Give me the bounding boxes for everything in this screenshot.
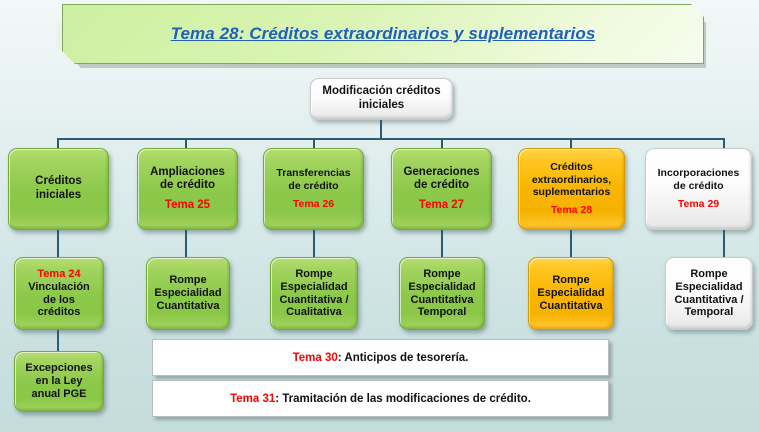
label-line3: créditos [19, 306, 99, 319]
node-tema24-label: Tema 24 Vinculación de los créditos [15, 268, 103, 320]
node-incorporaciones-label: Incorporaciones de crédito Tema 29 [646, 167, 751, 210]
node-incorporaciones-de-credito[interactable]: Incorporaciones de crédito Tema 29 [645, 148, 752, 230]
label-line1: Rompe [670, 268, 748, 281]
label-line3: Cuantitativa / [670, 294, 748, 307]
connector-col1-head-to-sub [57, 230, 59, 258]
label-line3: Cuantitativa [151, 300, 225, 313]
node-excepciones-ley-anual-pge[interactable]: Excepciones en la Ley anual PGE [14, 351, 104, 412]
tema-badge: Tema 29 [650, 198, 747, 210]
node-generaciones-de-credito[interactable]: Generaciones de crédito Tema 27 [391, 148, 492, 230]
label-line2: Especialidad [275, 281, 353, 294]
label-line3: anual PGE [19, 388, 99, 401]
label-line1: Rompe [533, 274, 609, 287]
root-label-line2: iniciales [315, 99, 448, 113]
connector-horizontal-bus [57, 138, 725, 140]
tema-badge: Tema 24 [19, 268, 99, 281]
node-rompe-label: Rompe Especialidad Cuantitativa / Cualit… [271, 268, 357, 320]
node-rompe-label: Rompe Especialidad Cuantitativa [529, 274, 613, 313]
label-line3: Cuantitativa / [275, 294, 353, 307]
node-transferencias-de-credito[interactable]: Transferencias de crédito Tema 26 [263, 148, 364, 230]
node-rompe-especialidad-cuantitativa-temporal-generaciones[interactable]: Rompe Especialidad Cuantitativa Temporal [399, 257, 485, 330]
label-line2: de crédito [142, 179, 233, 193]
connector-col3-head-to-sub [313, 230, 315, 258]
connector-col4-head-to-sub [441, 230, 443, 258]
label-line1: Rompe [275, 268, 353, 281]
label-line2: Especialidad [404, 281, 480, 294]
label-line1: Excepciones [19, 362, 99, 375]
node-rompe-especialidad-cuantitativa-cualitativa[interactable]: Rompe Especialidad Cuantitativa / Cualit… [270, 257, 358, 330]
root-node-modificacion-creditos-iniciales[interactable]: Modificación créditos iniciales [310, 78, 453, 120]
tema-badge: Tema 26 [268, 198, 359, 210]
label-line3: Cuantitativa [404, 294, 480, 307]
tema-badge: Tema 31 [230, 393, 275, 405]
node-creditos-extraordinarios-label: Créditos extraordinarios, suplementarios… [519, 161, 624, 217]
node-creditos-iniciales[interactable]: Créditos iniciales [8, 148, 109, 230]
banner-body: Tema 28: Créditos extraordinarios y supl… [62, 4, 704, 64]
node-rompe-especialidad-cuantitativa-ampliaciones[interactable]: Rompe Especialidad Cuantitativa [146, 257, 230, 330]
node-creditos-iniciales-label: Créditos iniciales [9, 175, 108, 202]
label-line4: Cualitativa [275, 306, 353, 319]
footer-banner-tema-30-text: Tema 30: Anticipos de tesorería. [293, 352, 469, 364]
title-banner: Tema 28: Créditos extraordinarios y supl… [62, 4, 702, 64]
node-excepciones-label: Excepciones en la Ley anual PGE [15, 362, 103, 401]
label-line2: de los [19, 294, 99, 307]
label-line1: Generaciones [396, 166, 487, 180]
footer-banner-tema-31[interactable]: Tema 31: Tramitación de las modificacion… [152, 380, 609, 417]
label-line2: Especialidad [670, 281, 748, 294]
label-line4: Temporal [404, 306, 480, 319]
label-line2: de crédito [396, 179, 487, 193]
footer-banner-tema-30-body: : Anticipos de tesorería. [338, 352, 469, 364]
page-title: Tema 28: Créditos extraordinarios y supl… [171, 24, 596, 44]
label-line2: de crédito [268, 180, 359, 192]
label-line4: Temporal [670, 306, 748, 319]
root-label-line1: Modificación créditos [315, 85, 448, 99]
root-node-label: Modificación créditos iniciales [311, 85, 452, 112]
label-line2: extraordinarios, [523, 174, 620, 186]
label-line1: Vinculación [19, 281, 99, 294]
node-transferencias-label: Transferencias de crédito Tema 26 [264, 167, 363, 210]
node-rompe-label: Rompe Especialidad Cuantitativa Temporal [400, 268, 484, 320]
tema-badge: Tema 25 [142, 199, 233, 213]
node-rompe-especialidad-cuantitativa-temporal-incorporaciones[interactable]: Rompe Especialidad Cuantitativa / Tempor… [665, 257, 753, 330]
label-line2: de crédito [650, 180, 747, 192]
node-ampliaciones-label: Ampliaciones de crédito Tema 25 [138, 166, 237, 213]
node-rompe-especialidad-cuantitativa-extraordinarios[interactable]: Rompe Especialidad Cuantitativa [528, 257, 614, 330]
footer-banner-tema-31-text: Tema 31: Tramitación de las modificacion… [230, 393, 531, 405]
connector-col1-sub-to-sub2 [57, 330, 59, 352]
label-line3: Cuantitativa [533, 300, 609, 313]
connector-root-stem [380, 120, 382, 139]
footer-banner-tema-31-body: : Tramitación de las modificaciones de c… [275, 393, 531, 405]
node-creditos-extraordinarios-suplementarios[interactable]: Créditos extraordinarios, suplementarios… [518, 148, 625, 230]
label-line2: iniciales [13, 189, 104, 203]
diagram-canvas: Tema 28: Créditos extraordinarios y supl… [0, 0, 759, 432]
label-line1: Rompe [151, 274, 225, 287]
connector-col2-head-to-sub [185, 230, 187, 258]
label-line1: Créditos [523, 161, 620, 173]
label-line1: Rompe [404, 268, 480, 281]
node-rompe-label: Rompe Especialidad Cuantitativa / Tempor… [666, 268, 752, 320]
tema-badge: Tema 27 [396, 199, 487, 213]
label-line2: Especialidad [151, 287, 225, 300]
label-line2: en la Ley [19, 375, 99, 388]
connector-col5-head-to-sub [570, 230, 572, 258]
tema-badge: Tema 30 [293, 352, 338, 364]
connector-col6-head-to-sub [723, 230, 725, 258]
node-rompe-label: Rompe Especialidad Cuantitativa [147, 274, 229, 313]
label-line1: Créditos [13, 175, 104, 189]
footer-banner-tema-30[interactable]: Tema 30: Anticipos de tesorería. [152, 339, 609, 376]
label-line3: suplementarios [523, 186, 620, 198]
label-line1: Incorporaciones [650, 167, 747, 179]
label-line1: Ampliaciones [142, 166, 233, 180]
tema-badge: Tema 28 [523, 204, 620, 216]
node-generaciones-label: Generaciones de crédito Tema 27 [392, 166, 491, 213]
node-tema24-vinculacion[interactable]: Tema 24 Vinculación de los créditos [14, 257, 104, 330]
node-ampliaciones-de-credito[interactable]: Ampliaciones de crédito Tema 25 [137, 148, 238, 230]
label-line2: Especialidad [533, 287, 609, 300]
label-line1: Transferencias [268, 167, 359, 179]
